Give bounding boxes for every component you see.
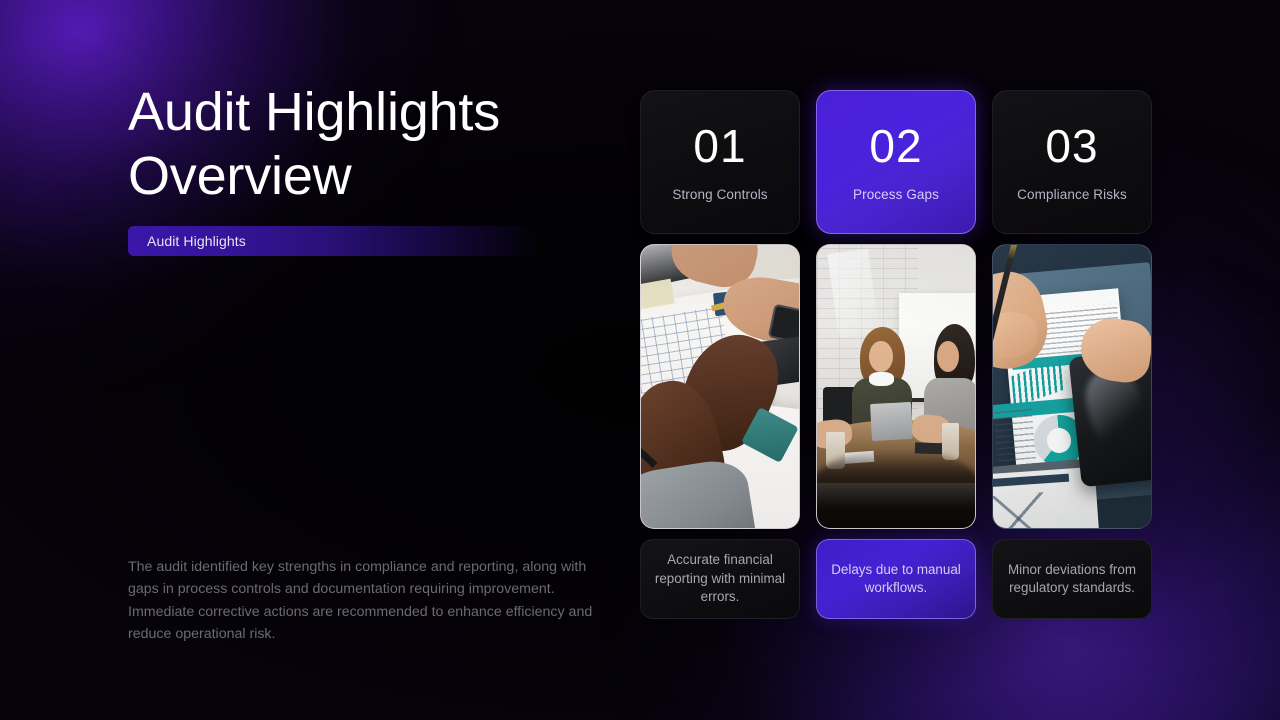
caption-row: Accurate financial reporting with minima…: [640, 539, 1152, 619]
number-value-02: 02: [869, 123, 922, 169]
number-label-02: Process Gaps: [853, 187, 939, 202]
caption-column-3: Minor deviations from regulatory standar…: [992, 539, 1152, 619]
number-card-row: 01 Strong Controls 02 Process Gaps 03 Co…: [640, 90, 1152, 234]
caption-card-02[interactable]: Delays due to manual workflows.: [816, 539, 976, 619]
grid-column-3: 03 Compliance Risks: [992, 90, 1152, 234]
page-title: Audit Highlights Overview: [128, 80, 598, 209]
number-value-03: 03: [1045, 123, 1098, 169]
financial-report-review-photo[interactable]: [992, 244, 1152, 529]
photo-column-2: [816, 244, 976, 529]
left-column: Audit Highlights Overview Audit Highligh…: [128, 0, 608, 720]
number-card-02[interactable]: 02 Process Gaps: [816, 90, 976, 234]
slide-root: Audit Highlights Overview Audit Highligh…: [0, 0, 1280, 720]
team-meeting-photo[interactable]: [816, 244, 976, 529]
number-value-01: 01: [693, 123, 746, 169]
number-label-03: Compliance Risks: [1017, 187, 1127, 202]
section-badge: Audit Highlights: [128, 226, 538, 256]
hands-over-blueprints-photo[interactable]: [640, 244, 800, 529]
photo-column-3: [992, 244, 1152, 529]
grid-column-2: 02 Process Gaps: [816, 90, 976, 234]
caption-column-2: Delays due to manual workflows.: [816, 539, 976, 619]
number-label-01: Strong Controls: [672, 187, 767, 202]
caption-card-03[interactable]: Minor deviations from regulatory standar…: [992, 539, 1152, 619]
caption-text-02: Delays due to manual workflows.: [829, 561, 963, 598]
caption-column-1: Accurate financial reporting with minima…: [640, 539, 800, 619]
grid-column-1: 01 Strong Controls: [640, 90, 800, 234]
caption-text-01: Accurate financial reporting with minima…: [653, 551, 787, 607]
number-card-01[interactable]: 01 Strong Controls: [640, 90, 800, 234]
photo-row: [640, 244, 1152, 529]
highlights-grid: 01 Strong Controls 02 Process Gaps 03 Co…: [640, 90, 1152, 619]
caption-text-03: Minor deviations from regulatory standar…: [1005, 561, 1139, 598]
caption-card-01[interactable]: Accurate financial reporting with minima…: [640, 539, 800, 619]
section-badge-label: Audit Highlights: [128, 233, 246, 249]
photo-column-1: [640, 244, 800, 529]
number-card-03[interactable]: 03 Compliance Risks: [992, 90, 1152, 234]
summary-paragraph: The audit identified key strengths in co…: [128, 556, 598, 646]
